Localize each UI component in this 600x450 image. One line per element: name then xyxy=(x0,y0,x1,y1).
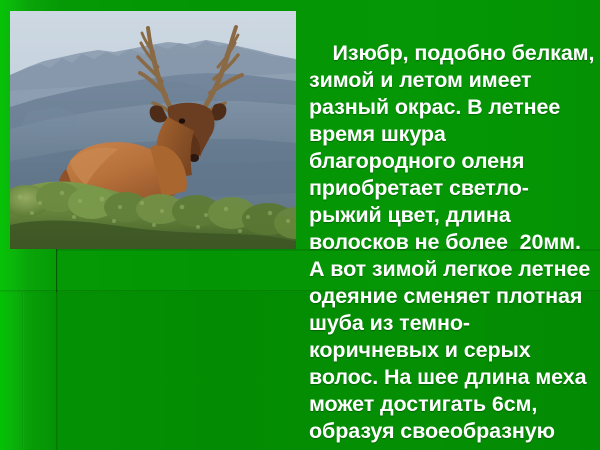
body-text-bold-emphasis: благородного оленя xyxy=(309,149,524,173)
body-text-part-2: приобретает светло-рыжий цвет, длина вол… xyxy=(309,149,596,450)
slide-canvas: Изюбр, подобно белкам, зимой и летом име… xyxy=(0,0,600,450)
background-vertical-divider-inner-top xyxy=(56,249,57,292)
izyubr-red-deer-stag-photo xyxy=(10,11,296,249)
background-vertical-divider-left xyxy=(22,292,24,450)
body-text-part-1: Изюбр, подобно белкам, зимой и летом име… xyxy=(309,41,600,146)
slide-body-text: Изюбр, подобно белкам, зимой и летом име… xyxy=(309,13,595,450)
